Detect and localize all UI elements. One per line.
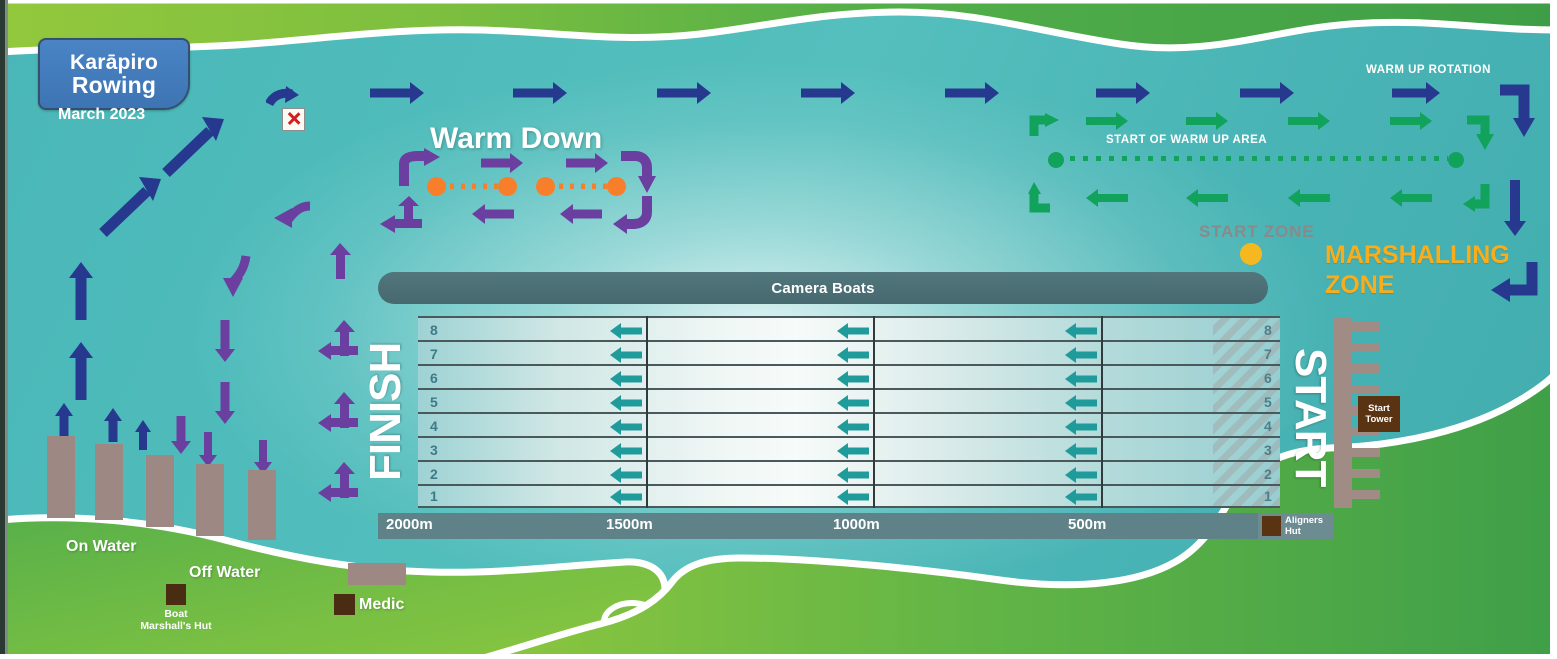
start-tower-label: Start Tower — [1358, 403, 1400, 425]
race-direction-arrow — [610, 372, 642, 385]
race-direction-arrow — [1065, 324, 1097, 337]
start-of-warm-up-area-label: START OF WARM UP AREA — [1106, 134, 1267, 146]
warm-up-boundary-dotted-line — [1068, 155, 1450, 161]
purple-arrow-right — [566, 155, 608, 171]
green-arrow-left — [1288, 190, 1330, 206]
boat-shed — [146, 455, 174, 527]
canvas-right-border — [1550, 0, 1557, 659]
aligners-hut-label: Aligners Hut — [1285, 515, 1333, 537]
event-logo-badge: Karāpiro Rowing — [38, 38, 190, 110]
lane-number-right: 6 — [1264, 370, 1272, 386]
warm-down-buoy — [536, 177, 555, 196]
lane-number-right: 3 — [1264, 442, 1272, 458]
lane-number-left: 6 — [430, 370, 438, 386]
lane-number-left: 4 — [430, 418, 438, 434]
green-arrow-left — [1390, 190, 1432, 206]
navy-arrow-right — [801, 84, 855, 102]
lane-divider — [418, 412, 1280, 414]
medic-building — [348, 563, 406, 585]
canvas-left-border-inner — [5, 0, 8, 659]
purple-arrow-up — [318, 243, 362, 281]
camera-boats-bar: Camera Boats — [378, 272, 1268, 304]
pontoon-finger — [1352, 385, 1380, 394]
navy-arrow-right — [1240, 84, 1294, 102]
purple-arrow-right — [481, 155, 523, 171]
navy-arrow-diagonal — [95, 175, 167, 241]
distance-split-line — [873, 316, 875, 508]
boat-shed — [47, 436, 75, 518]
green-arrow-right — [1186, 113, 1228, 129]
purple-hook-left — [272, 200, 316, 234]
distance-marker: 1500m — [606, 516, 653, 533]
race-direction-arrow — [610, 324, 642, 337]
lane-number-right: 7 — [1264, 346, 1272, 362]
canvas-bottom-border — [0, 654, 1557, 659]
navy-arrow-up — [70, 262, 92, 320]
distance-split-line — [646, 316, 648, 508]
boat-marshalls-hut-marker — [166, 584, 186, 605]
green-hook-up-right — [1028, 108, 1064, 140]
green-hook-up-from-down — [1028, 182, 1064, 216]
start-zone-buoy — [1240, 243, 1262, 265]
purple-arrow-down — [216, 382, 234, 424]
navy-arrow-right — [1096, 84, 1150, 102]
race-direction-arrow — [610, 468, 642, 481]
distance-marker: 1000m — [833, 516, 880, 533]
pontoon-finger — [1352, 490, 1380, 499]
lane-divider — [418, 340, 1280, 342]
race-direction-arrow — [837, 324, 869, 337]
race-direction-arrow — [610, 444, 642, 457]
start-label: START — [1287, 326, 1333, 508]
navy-arrow-up — [56, 403, 72, 439]
navy-arrow-right — [1392, 84, 1440, 102]
purple-arrow-left — [560, 206, 602, 222]
race-direction-arrow — [837, 444, 869, 457]
medic-label: Medic — [359, 596, 404, 614]
lane-divider — [418, 484, 1280, 486]
race-direction-arrow — [1065, 372, 1097, 385]
green-arrow-right — [1288, 113, 1330, 129]
lane-number-right: 2 — [1264, 466, 1272, 482]
boat-shed — [248, 470, 276, 540]
navy-arrow-right — [945, 84, 999, 102]
race-direction-arrow — [837, 420, 869, 433]
on-water-label: On Water — [66, 538, 137, 556]
green-arrow-right — [1390, 113, 1432, 129]
purple-arrow-down — [216, 320, 234, 362]
lane-divider — [418, 506, 1280, 508]
purple-arrow-down — [200, 432, 216, 467]
green-hook-down-left — [1463, 180, 1499, 216]
purple-arrow-tee-left — [318, 392, 366, 434]
purple-hook-up-right — [396, 148, 440, 192]
lane-divider — [418, 460, 1280, 462]
lane-divider — [418, 364, 1280, 366]
lane-number-left: 2 — [430, 466, 438, 482]
marshalling-zone-label: MARSHALLING ZONE — [1325, 240, 1557, 300]
navy-arrow-curve-right — [266, 86, 300, 112]
warm-up-boundary-dot — [1448, 152, 1464, 168]
distance-split-line — [1101, 316, 1103, 508]
race-direction-arrow — [610, 396, 642, 409]
race-direction-arrow — [837, 490, 869, 503]
logo-line-2: Rowing — [72, 74, 156, 97]
navy-arrow-up — [135, 420, 150, 450]
race-direction-arrow — [1065, 396, 1097, 409]
purple-arrow-left — [472, 206, 514, 222]
medic-marker — [334, 594, 355, 615]
race-direction-arrow — [1065, 420, 1097, 433]
pontoon-finger — [1352, 364, 1380, 373]
purple-arrow-tee-left — [380, 196, 432, 234]
pontoon-finger — [1352, 343, 1380, 352]
start-pontoon — [1334, 318, 1352, 508]
lane-number-left: 7 — [430, 346, 438, 362]
start-zone-label: START ZONE — [1199, 222, 1314, 242]
boat-shed — [95, 444, 123, 520]
distance-marker: 500m — [1068, 516, 1106, 533]
warm-down-title: Warm Down — [430, 122, 602, 156]
race-direction-arrow — [610, 348, 642, 361]
finish-label: FINISH — [363, 322, 409, 502]
purple-hook-right-down — [613, 148, 657, 194]
green-hook-right-down — [1463, 108, 1499, 152]
purple-hook-down-left — [613, 192, 657, 236]
aligners-hut-marker — [1262, 516, 1281, 536]
navy-hook-right-down — [1496, 80, 1544, 140]
warm-up-boundary-dot — [1048, 152, 1064, 168]
lane-divider — [418, 388, 1280, 390]
warm-up-rotation-label: WARM UP ROTATION — [1366, 64, 1491, 76]
lane-number-right: 1 — [1264, 488, 1272, 504]
race-course-lanes: 8 7 6 5 4 3 2 1 8 7 6 5 4 3 2 1 — [418, 316, 1280, 508]
warm-down-dotted-line — [557, 183, 609, 189]
camera-boats-label: Camera Boats — [771, 280, 874, 297]
race-direction-arrow — [837, 372, 869, 385]
course-map-canvas: Karāpiro Rowing March 2023 — [0, 0, 1557, 659]
start-tower-marker: Start Tower — [1358, 396, 1400, 432]
race-direction-arrow — [610, 490, 642, 503]
lane-number-left: 8 — [430, 322, 438, 338]
purple-arrow-tee-left — [318, 320, 366, 362]
warm-down-buoy — [498, 177, 517, 196]
purple-arrow-down — [172, 416, 189, 454]
navy-arrow-right — [513, 84, 567, 102]
green-arrow-left — [1186, 190, 1228, 206]
lane-divider — [418, 316, 1280, 318]
lane-number-left: 1 — [430, 488, 438, 504]
warm-down-dotted-line — [448, 183, 500, 189]
green-arrow-left — [1086, 190, 1128, 206]
pontoon-finger — [1352, 322, 1380, 331]
logo-line-1: Karāpiro — [70, 52, 158, 73]
navy-arrow-diagonal — [158, 115, 230, 181]
navy-arrow-right — [370, 84, 424, 102]
navy-arrow-down — [1505, 180, 1525, 236]
lane-number-right: 8 — [1264, 322, 1272, 338]
race-direction-arrow — [837, 396, 869, 409]
navy-arrow-up — [105, 408, 121, 442]
race-direction-arrow — [837, 348, 869, 361]
event-date-label: March 2023 — [58, 106, 145, 124]
boat-marshalls-hut-label: Boat Marshall's Hut — [140, 608, 212, 632]
purple-hook-down — [218, 252, 252, 300]
boat-shed — [196, 464, 224, 536]
purple-arrow-tee-left — [318, 462, 366, 504]
race-direction-arrow — [1065, 348, 1097, 361]
lane-number-left: 5 — [430, 394, 438, 410]
lane-number-right: 5 — [1264, 394, 1272, 410]
race-direction-arrow — [1065, 468, 1097, 481]
green-arrow-right — [1086, 113, 1128, 129]
distance-marker-bar: 2000m 1500m 1000m 500m — [378, 513, 1278, 539]
pontoon-finger — [1352, 469, 1380, 478]
aligners-hut-legend: Aligners Hut — [1258, 513, 1333, 539]
distance-marker: 2000m — [386, 516, 433, 533]
race-direction-arrow — [1065, 444, 1097, 457]
navy-arrow-right — [657, 84, 711, 102]
off-water-label: Off Water — [189, 564, 260, 582]
lane-number-left: 3 — [430, 442, 438, 458]
race-direction-arrow — [610, 420, 642, 433]
lane-number-right: 4 — [1264, 418, 1272, 434]
purple-arrow-down — [255, 440, 271, 474]
race-direction-arrow — [837, 468, 869, 481]
navy-arrow-up — [70, 342, 92, 400]
lane-divider — [418, 436, 1280, 438]
race-direction-arrow — [1065, 490, 1097, 503]
pontoon-finger — [1352, 448, 1380, 457]
